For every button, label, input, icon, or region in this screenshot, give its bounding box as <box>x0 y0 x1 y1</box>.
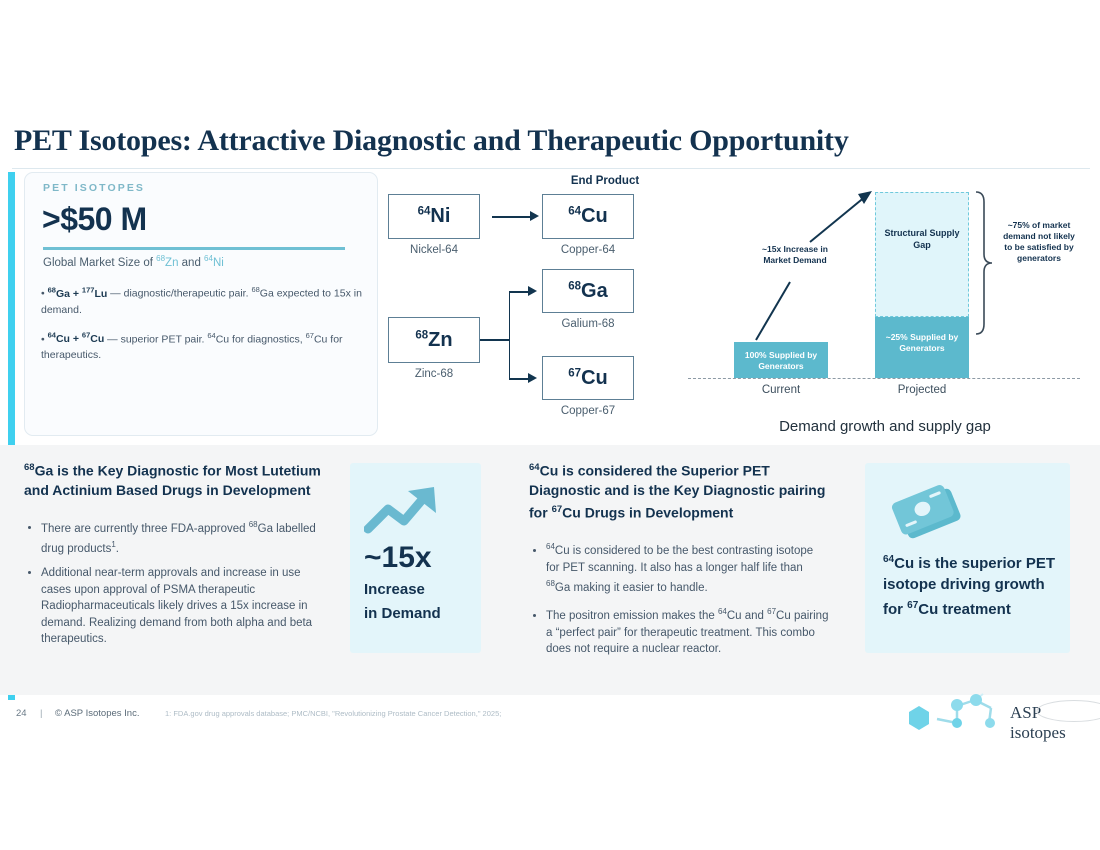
arrow-line-ni-cu <box>492 216 532 219</box>
isotope-flow-diagram: End Product 64Ni Nickel-64 64Cu Copper-6… <box>380 172 670 434</box>
supply-gap-chart: 100% Supplied by Generators Structural S… <box>680 172 1090 442</box>
title-divider <box>12 168 1090 169</box>
ni64-symbol: Ni <box>430 205 450 227</box>
axis-label-projected: Projected <box>867 384 977 396</box>
ga68-symbol: Ga <box>581 280 608 302</box>
logo-ellipse-icon <box>1035 699 1100 723</box>
footer-separator: | <box>40 708 42 719</box>
chart-baseline <box>688 378 1080 379</box>
node-gallium-68: 68Ga <box>542 269 634 313</box>
bar-current-label: 100% Supplied by Generators <box>734 350 828 372</box>
middle-column: 64Cu is considered the Superior PET Diag… <box>529 458 829 666</box>
node-copper-64: 64Cu <box>542 194 634 239</box>
market-size-value: >$50 M <box>42 201 147 238</box>
middle-column-bullets: 64Cu is considered to be the best contra… <box>529 539 829 657</box>
increase-stat-card: ~15x Increase in Demand <box>350 463 481 653</box>
pet-isotopes-label: PET ISOTOPES <box>43 182 145 194</box>
pet-bullet-1: • 68Ga + 177Lu — diagnostic/therapeutic … <box>41 282 365 318</box>
market-size-underline <box>43 247 345 250</box>
caption-nickel-64: Nickel-64 <box>388 244 480 256</box>
list-item: 64Cu is considered to be the best contra… <box>546 539 829 596</box>
arrow-line-zn-riser <box>509 292 511 380</box>
ni64-mass: 64 <box>418 205 431 217</box>
logo-wordmark: ASP isotopes <box>1010 703 1085 743</box>
cu64-symbol: Cu <box>581 205 608 227</box>
cu64-mass: 64 <box>568 205 581 217</box>
axis-label-current: Current <box>726 384 836 396</box>
superior-isotope-text: 64Cu is the superior PET isotope driving… <box>883 549 1058 620</box>
arrow-head-zn-cu <box>528 373 537 383</box>
arrow-head-zn-ga <box>528 286 537 296</box>
ni-symbol: Ni <box>213 257 224 269</box>
increase-annotation: ~15x Increase in Market Demand <box>754 244 836 266</box>
caption-copper-67: Copper-67 <box>542 405 634 417</box>
pet-isotopes-card: PET ISOTOPES >$50 M Global Market Size o… <box>24 172 378 436</box>
bar-projected-gap-label: Structural Supply Gap <box>875 227 969 251</box>
superior-isotope-card: 64Cu is the superior PET isotope driving… <box>865 463 1070 653</box>
trending-up-icon <box>364 481 442 536</box>
list-item: Additional near-term approvals and incre… <box>41 565 324 648</box>
end-product-label: End Product <box>542 175 668 187</box>
stat-line-1: Increase <box>364 581 425 598</box>
left-column-heading: 68Ga is the Key Diagnostic for Most Lute… <box>24 458 324 500</box>
asp-isotopes-logo: ASP isotopes <box>895 692 1085 740</box>
node-copper-67: 67Cu <box>542 356 634 400</box>
page-title: PET Isotopes: Attractive Diagnostic and … <box>14 124 1074 158</box>
node-zinc-68: 68Zn <box>388 317 480 363</box>
slide-root: PET Isotopes: Attractive Diagnostic and … <box>0 0 1100 850</box>
caption-zinc-68: Zinc-68 <box>388 368 480 380</box>
logo-word: isotopes <box>1010 723 1066 742</box>
caption-gallium-68: Galium-68 <box>542 318 634 330</box>
left-column: 68Ga is the Key Diagnostic for Most Lute… <box>24 458 324 656</box>
pet-bullet-2: • 64Cu + 67Cu — superior PET pair. 64Cu … <box>41 328 365 364</box>
caption-join: and <box>178 257 204 269</box>
chart-caption: Demand growth and supply gap <box>680 418 1090 435</box>
tilted-card-icon <box>883 481 973 543</box>
zn68-symbol: Zn <box>428 329 452 351</box>
bracket-annotation: ~75% of market demand not likely to be s… <box>1000 220 1078 264</box>
cu67-symbol: Cu <box>581 367 608 389</box>
lower-section: 68Ga is the Key Diagnostic for Most Lute… <box>0 445 1100 695</box>
stat-number: ~15x <box>364 541 432 575</box>
list-item: There are currently three FDA-approved 6… <box>41 517 324 558</box>
list-item: The positron emission makes the 64Cu and… <box>546 604 829 657</box>
ni-mass-number: 64 <box>204 254 213 263</box>
market-size-caption: Global Market Size of 68Zn and 64Ni <box>43 254 224 269</box>
cu67-mass: 67 <box>568 367 581 379</box>
arrow-line-zn-stub <box>480 339 510 341</box>
zn68-mass: 68 <box>415 329 428 341</box>
node-nickel-64: 64Ni <box>388 194 480 239</box>
bar-projected-supplied-label: ~25% Supplied by Generators <box>875 332 969 354</box>
caption-copper-64: Copper-64 <box>542 244 634 256</box>
bar-projected-gap <box>875 192 969 317</box>
stat-line-2: in Demand <box>364 605 441 622</box>
caption-prefix: Global Market Size of <box>43 257 156 269</box>
footnote-text: 1: FDA.gov drug approvals database; PMC/… <box>165 709 501 718</box>
molecule-icon <box>895 692 1010 740</box>
ga68-mass: 68 <box>568 280 581 292</box>
arrow-head-ni-cu <box>530 211 539 221</box>
upper-section: PET ISOTOPES >$50 M Global Market Size o… <box>0 172 1100 442</box>
bracket-icon <box>972 188 1000 338</box>
page-number: 24 <box>16 708 27 719</box>
middle-column-heading: 64Cu is considered the Superior PET Diag… <box>529 458 829 522</box>
left-column-bullets: There are currently three FDA-approved 6… <box>24 517 324 648</box>
zn-mass-number: 68 <box>156 254 165 263</box>
zn-symbol: Zn <box>165 257 178 269</box>
copyright-text: © ASP Isotopes Inc. <box>55 708 139 719</box>
pet-isotopes-bullets: • 68Ga + 177Lu — diagnostic/therapeutic … <box>41 282 365 373</box>
